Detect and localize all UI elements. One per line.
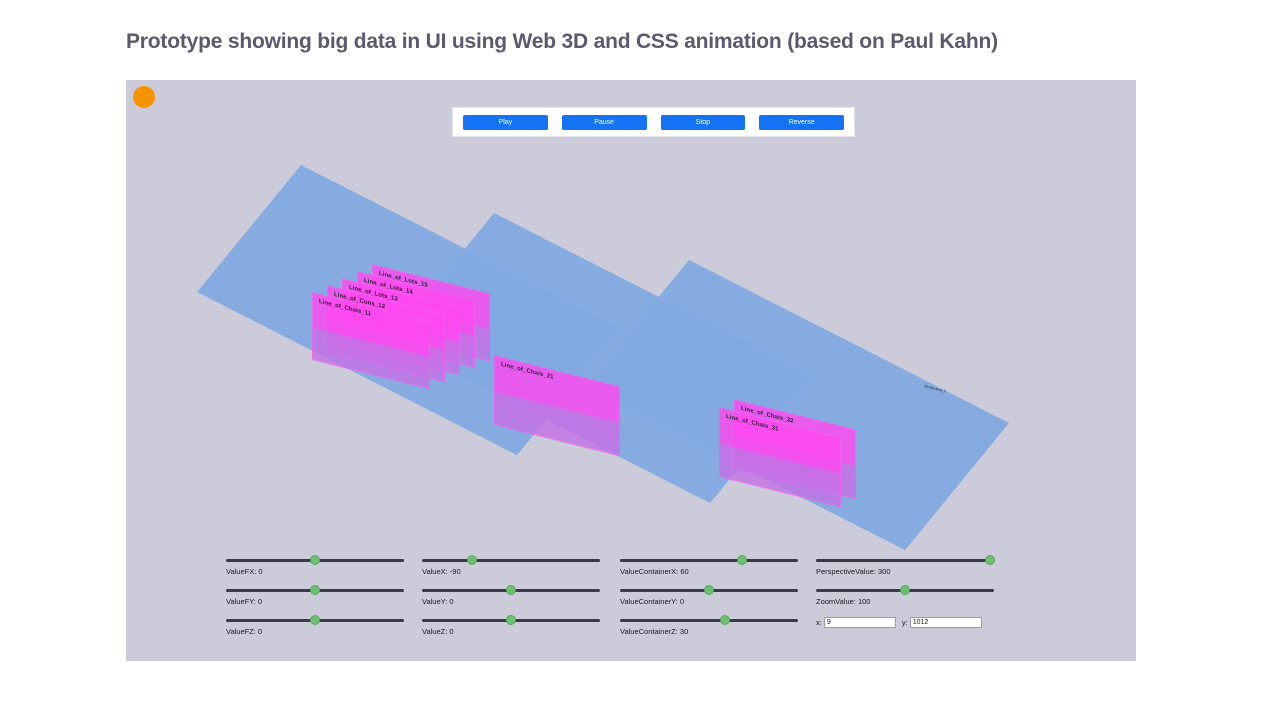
slider-thumb[interactable] (310, 585, 320, 595)
controls-column-transform-f: ValueFX: 0 ValueFY: 0 ValueFZ: 0 (226, 553, 408, 643)
slider-thumb[interactable] (467, 555, 477, 565)
value-container-y-slider[interactable] (620, 585, 798, 596)
value-fy-slider[interactable] (226, 585, 404, 596)
slider-row-value-z[interactable]: ValueZ: 0 (422, 615, 604, 643)
y-coordinate-input[interactable] (910, 617, 982, 628)
slider-thumb[interactable] (506, 615, 516, 625)
value-y-slider[interactable] (422, 585, 600, 596)
slider-row-value-x[interactable]: ValueX: -90 (422, 555, 604, 583)
zoom-value-slider[interactable] (816, 585, 994, 596)
slider-row-zoom[interactable]: ZoomValue: 100 (816, 585, 998, 613)
value-container-x-slider[interactable] (620, 555, 798, 566)
value-z-label: ValueZ: 0 (422, 627, 604, 636)
slider-thumb[interactable] (310, 555, 320, 565)
y-coordinate-label: y: (902, 618, 908, 627)
slider-thumb[interactable] (704, 585, 714, 595)
value-container-y-label: ValueContainerY: 0 (620, 597, 802, 606)
slider-thumb[interactable] (720, 615, 730, 625)
value-z-slider[interactable] (422, 615, 600, 626)
value-fx-label: ValueFX: 0 (226, 567, 408, 576)
value-x-slider[interactable] (422, 555, 600, 566)
slider-thumb[interactable] (900, 585, 910, 595)
page-title: Prototype showing big data in UI using W… (126, 30, 1126, 54)
controls-column-camera: PerspectiveValue: 300 ZoomValue: 100 x: … (816, 553, 998, 628)
x-coordinate-input[interactable] (824, 617, 896, 628)
slider-row-value-y[interactable]: ValueY: 0 (422, 585, 604, 613)
slider-track (620, 619, 798, 622)
value-fy-label: ValueFY: 0 (226, 597, 408, 606)
slider-row-container-x[interactable]: ValueContainerX: 60 (620, 555, 802, 583)
slider-row-value-fy[interactable]: ValueFY: 0 (226, 585, 408, 613)
slider-thumb[interactable] (310, 615, 320, 625)
slider-thumb[interactable] (737, 555, 747, 565)
value-fz-label: ValueFZ: 0 (226, 627, 408, 636)
coordinate-inputs-row: x: y: (816, 617, 998, 628)
section-area-3-label: SectionArea_3 (924, 384, 947, 393)
value-container-x-label: ValueContainerX: 60 (620, 567, 802, 576)
controls-column-transform: ValueX: -90 ValueY: 0 ValueZ: 0 (422, 553, 604, 643)
prototype-canvas[interactable]: Play Pause Stop Reverse SectionArea_1 Se… (126, 80, 1136, 661)
slider-row-perspective[interactable]: PerspectiveValue: 300 (816, 555, 998, 583)
slider-thumb[interactable] (985, 555, 995, 565)
value-x-label: ValueX: -90 (422, 567, 604, 576)
slider-row-container-y[interactable]: ValueContainerY: 0 (620, 585, 802, 613)
slider-row-value-fz[interactable]: ValueFZ: 0 (226, 615, 408, 643)
perspective-value-slider[interactable] (816, 555, 994, 566)
slider-thumb[interactable] (506, 585, 516, 595)
x-coordinate-label: x: (816, 618, 822, 627)
perspective-value-label: PerspectiveValue: 300 (816, 567, 998, 576)
value-container-z-slider[interactable] (620, 615, 798, 626)
slide-page: Prototype showing big data in UI using W… (0, 0, 1280, 720)
value-fx-slider[interactable] (226, 555, 404, 566)
controls-panel: ValueFX: 0 ValueFY: 0 ValueFZ: 0 (226, 553, 998, 639)
value-container-z-label: ValueContainerZ: 30 (620, 627, 802, 636)
slider-track (816, 559, 994, 562)
value-fz-slider[interactable] (226, 615, 404, 626)
zoom-value-label: ZoomValue: 100 (816, 597, 998, 606)
slider-track (422, 559, 600, 562)
slider-track (620, 559, 798, 562)
three-d-scene[interactable]: SectionArea_1 SectionArea_2 SectionArea_… (126, 80, 1136, 600)
slider-row-container-z[interactable]: ValueContainerZ: 30 (620, 615, 802, 643)
value-y-label: ValueY: 0 (422, 597, 604, 606)
controls-column-container: ValueContainerX: 60 ValueContainerY: 0 V… (620, 553, 802, 643)
slider-row-value-fx[interactable]: ValueFX: 0 (226, 555, 408, 583)
